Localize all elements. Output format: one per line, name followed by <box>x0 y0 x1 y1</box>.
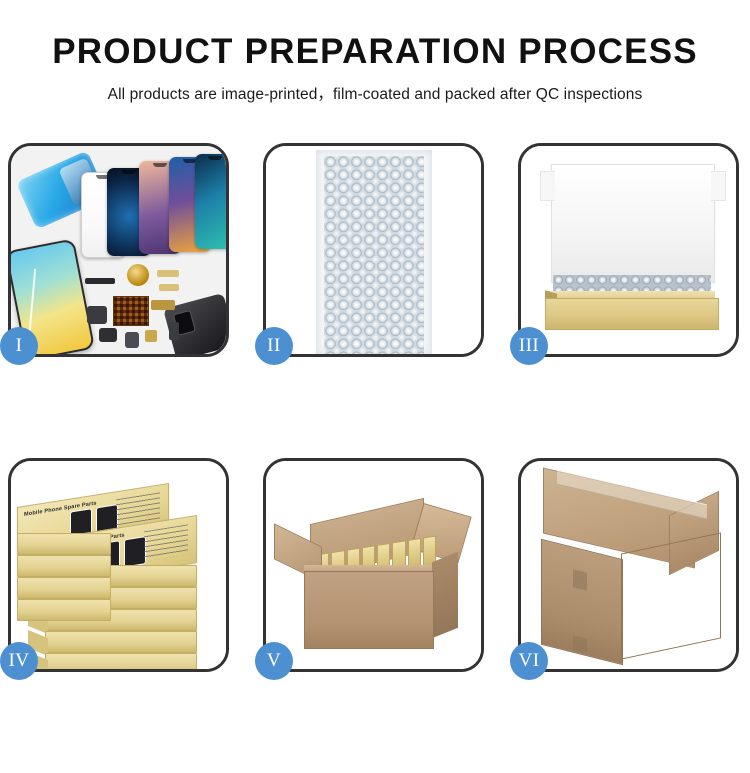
bubble-highlight-texture <box>324 156 424 354</box>
panel-step-3-image <box>521 146 736 354</box>
open-mailer-scene <box>521 146 736 354</box>
gold-connector-icon <box>159 284 179 291</box>
white-box-lid-icon <box>551 164 715 283</box>
step-badge-2: II <box>255 327 293 365</box>
process-step-grid: I II <box>0 143 750 773</box>
step-badge-6: VI <box>510 642 548 680</box>
phone-parts-scene <box>11 146 226 354</box>
panel-step-2[interactable]: II <box>263 143 484 357</box>
step-badge-3: III <box>510 327 548 365</box>
panel-step-5-image <box>266 461 481 669</box>
retail-box-layer-rear <box>17 599 111 621</box>
stacked-boxes-scene: Mobile Phone Spare Parts Mobile Phone Sp… <box>11 461 226 669</box>
panel-step-3[interactable]: III <box>518 143 739 357</box>
phone-fan-group <box>73 154 226 260</box>
camera-module-icon <box>125 332 139 348</box>
gold-flex-icon <box>151 300 175 310</box>
carton-front-face <box>304 571 434 649</box>
notch-icon <box>122 170 136 174</box>
sealed-carton-scene <box>521 461 736 669</box>
panel-step-4-image: Mobile Phone Spare Parts Mobile Phone Sp… <box>11 461 226 669</box>
panel-step-6-image <box>521 461 736 669</box>
chip-grid-icon <box>113 296 149 326</box>
retail-box-layer <box>45 653 197 669</box>
process-row-2: Mobile Phone Spare Parts Mobile Phone Sp… <box>0 458 750 678</box>
retail-box-layer <box>45 631 197 653</box>
step-badge-1: I <box>0 327 38 365</box>
panel-step-6[interactable]: VI <box>518 458 739 672</box>
notch-icon <box>208 156 222 160</box>
retail-box-layer-rear <box>17 533 111 555</box>
small-module-icon <box>87 306 107 324</box>
retail-box-layer-rear <box>17 577 111 599</box>
phone-teal-icon <box>195 154 226 249</box>
gold-chip-icon <box>145 330 157 342</box>
battery-connector-icon <box>169 322 179 340</box>
panel-step-4[interactable]: Mobile Phone Spare Parts Mobile Phone Sp… <box>8 458 229 672</box>
gold-connector-icon <box>157 270 179 277</box>
spare-parts-group <box>83 264 226 354</box>
panel-step-2-image <box>266 146 481 354</box>
bubble-wrap-pouch-icon <box>316 150 432 354</box>
bubble-wrap-scene <box>266 146 481 354</box>
copper-coil-icon <box>127 264 149 286</box>
process-row-1: I II <box>0 143 750 363</box>
carton-right-face <box>432 552 458 639</box>
panel-step-5[interactable]: V <box>263 458 484 672</box>
speaker-module-icon <box>99 328 117 342</box>
panel-step-1-image <box>11 146 226 354</box>
kraft-box-front-icon <box>545 298 719 330</box>
open-carton-scene <box>266 461 481 669</box>
notch-icon <box>153 163 167 167</box>
page-header: PRODUCT PREPARATION PROCESS All products… <box>0 0 750 104</box>
retail-box-layer-rear <box>17 555 111 577</box>
step-badge-4: IV <box>0 642 38 680</box>
page-subtitle: All products are image-printed，film-coat… <box>0 82 750 104</box>
carton-front-face <box>621 532 721 659</box>
panel-step-1[interactable]: I <box>8 143 229 357</box>
step-badge-5: V <box>255 642 293 680</box>
carton-seam-tab <box>573 569 587 590</box>
box-spec-lines <box>144 524 188 561</box>
page-title: PRODUCT PREPARATION PROCESS <box>0 34 750 71</box>
box-phone-image-icon <box>124 536 146 567</box>
flex-cable-icon <box>85 278 115 284</box>
